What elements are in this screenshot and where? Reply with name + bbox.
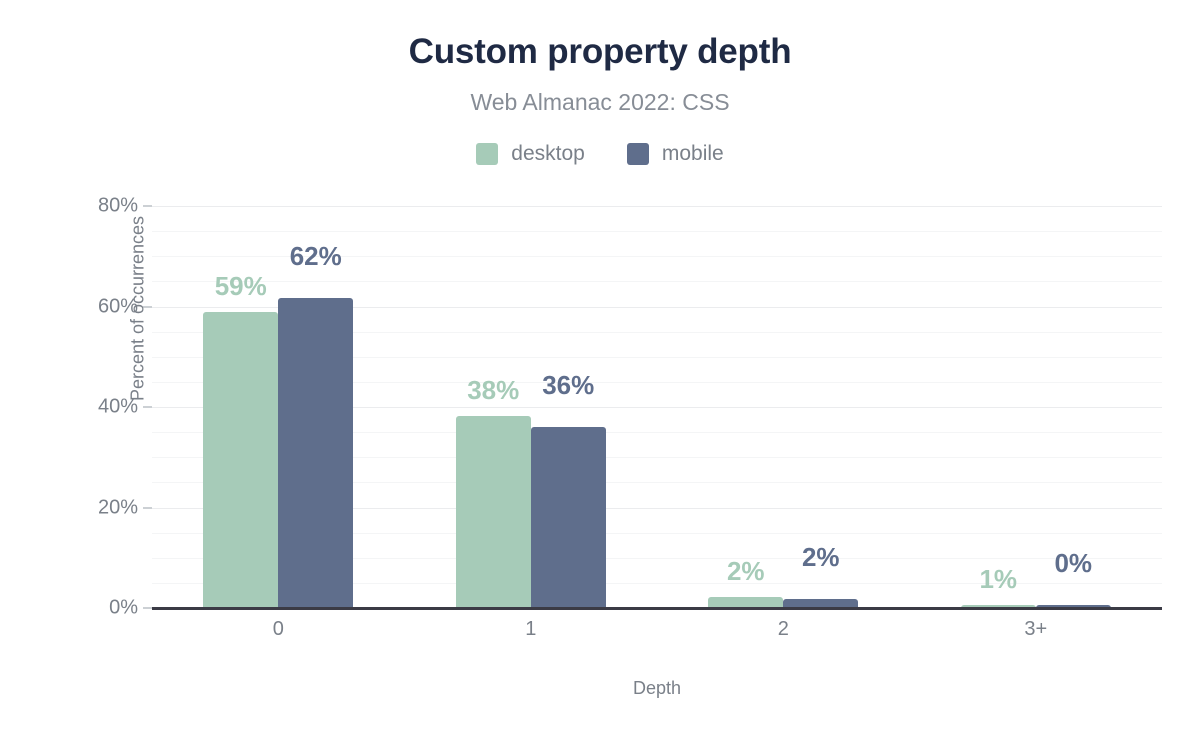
bar-rect[interactable] [278, 298, 353, 608]
x-axis-tick-label: 0 [152, 618, 405, 641]
legend-label-mobile: mobile [662, 142, 724, 166]
y-axis-tick-label: 60% [18, 295, 138, 318]
bar-mobile-2[interactable]: 2% [783, 206, 858, 608]
bar-groups: 59%62%38%36%2%2%1%0% [152, 206, 1162, 608]
bar-mobile-3plus[interactable]: 0% [1036, 206, 1111, 608]
y-axis-tick-label: 40% [18, 396, 138, 419]
chart-subtitle: Web Almanac 2022: CSS [0, 89, 1200, 116]
legend-swatch-desktop [476, 143, 498, 165]
legend-item-desktop[interactable]: desktop [476, 142, 585, 166]
legend-label-desktop: desktop [511, 142, 585, 166]
y-axis-tick-mark [143, 407, 152, 408]
y-axis-tick-label: 80% [18, 195, 138, 218]
bar-desktop-0[interactable]: 59% [203, 206, 278, 608]
bar-group-2: 2%2% [657, 206, 910, 608]
x-axis-tick-label: 3+ [910, 618, 1163, 641]
bar-desktop-3plus[interactable]: 1% [961, 206, 1036, 608]
x-axis-baseline [152, 607, 1162, 610]
y-axis-tick-mark [143, 608, 152, 609]
y-axis-tick-label: 0% [18, 597, 138, 620]
bar-group-3plus: 1%0% [910, 206, 1163, 608]
bar-group-0: 59%62% [152, 206, 405, 608]
y-axis-tick-mark [143, 306, 152, 307]
y-axis-tick-mark [143, 507, 152, 508]
bar-value-label: 36% [542, 370, 594, 401]
bar-rect[interactable] [456, 416, 531, 608]
bar-value-label: 0% [1054, 548, 1092, 579]
bar-value-label: 2% [727, 556, 765, 587]
bar-rect[interactable] [531, 427, 606, 608]
y-axis-tick-mark [143, 206, 152, 207]
chart-title: Custom property depth [0, 32, 1200, 72]
bar-value-label: 1% [979, 564, 1017, 595]
x-axis-tick-label: 2 [657, 618, 910, 641]
bar-value-label: 38% [467, 375, 519, 406]
bar-desktop-1[interactable]: 38% [456, 206, 531, 608]
bar-rect[interactable] [203, 312, 278, 608]
bar-mobile-1[interactable]: 36% [531, 206, 606, 608]
bar-desktop-2[interactable]: 2% [708, 206, 783, 608]
y-axis-tick-label: 20% [18, 496, 138, 519]
x-axis-ticks: 0123+ [152, 618, 1162, 641]
bar-value-label: 62% [290, 241, 342, 272]
legend-item-mobile[interactable]: mobile [627, 142, 724, 166]
chart-figure: Custom property depth Web Almanac 2022: … [0, 0, 1200, 742]
bar-value-label: 2% [802, 542, 840, 573]
x-axis-label: Depth [152, 678, 1162, 699]
bar-group-1: 38%36% [405, 206, 658, 608]
legend-swatch-mobile [627, 143, 649, 165]
bar-value-label: 59% [215, 271, 267, 302]
bar-mobile-0[interactable]: 62% [278, 206, 353, 608]
x-axis-tick-label: 1 [405, 618, 658, 641]
chart-legend: desktop mobile [0, 142, 1200, 166]
